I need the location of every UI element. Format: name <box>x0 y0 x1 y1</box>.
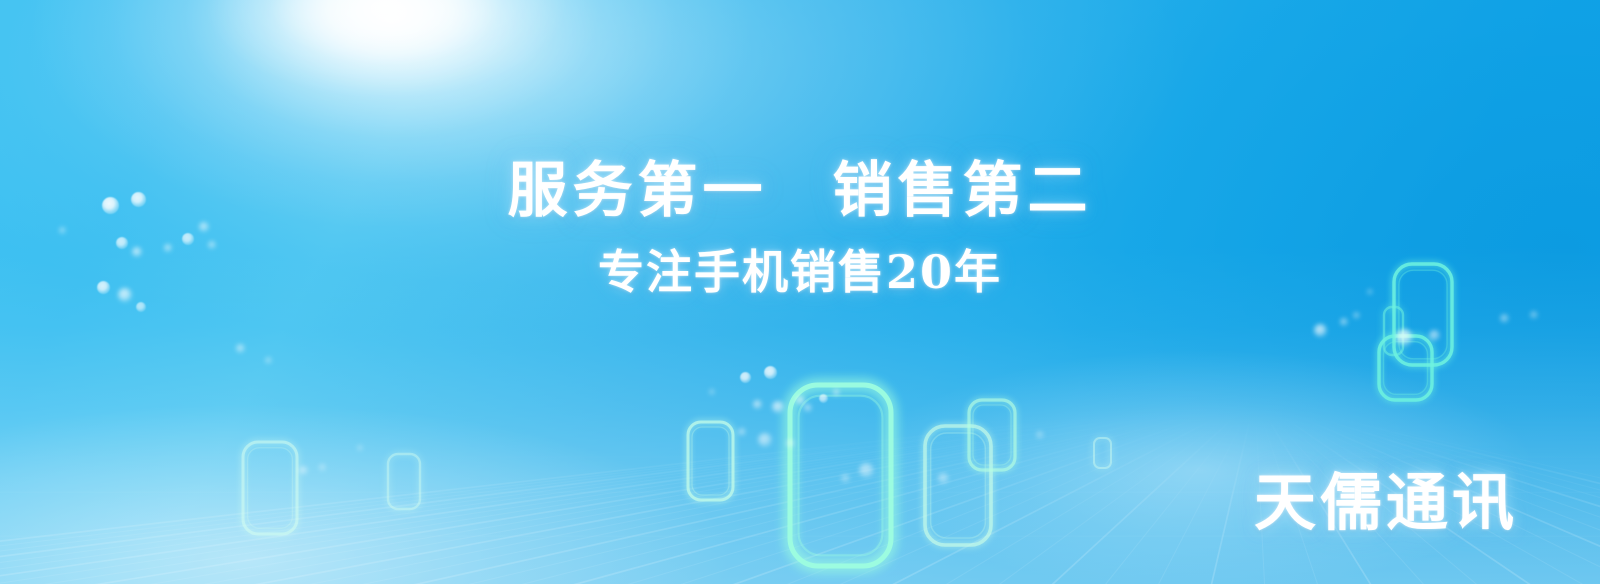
bokeh-dot <box>1429 330 1440 341</box>
phone-center-large <box>790 385 891 566</box>
floor-ray <box>504 414 1255 584</box>
bokeh-dot <box>786 439 795 448</box>
bokeh-dot <box>758 433 772 447</box>
bokeh-dot <box>740 372 751 383</box>
floor-ray <box>0 414 1255 584</box>
bokeh-dot <box>1353 312 1360 319</box>
brand-name: 天儒通讯 <box>1254 452 1518 542</box>
bokeh-dot <box>236 344 245 353</box>
bokeh-dot <box>772 401 784 413</box>
phone-center-large-screen <box>799 396 883 556</box>
floor-ray <box>0 414 1255 584</box>
phone-right-a-screen <box>931 433 986 538</box>
bokeh-dot <box>859 463 874 478</box>
bokeh-dot <box>796 396 805 405</box>
bokeh-dot <box>265 357 272 364</box>
floor-ray <box>884 414 1255 584</box>
floor-ray <box>0 414 1255 584</box>
bokeh-dot <box>1530 311 1538 319</box>
phone-mid-small-screen <box>692 427 729 495</box>
floor-ray <box>450 414 1255 584</box>
phone-right-tiny <box>1094 438 1111 468</box>
bokeh-dot <box>753 400 762 409</box>
bokeh-dot <box>738 428 746 436</box>
phone-right-a <box>925 426 991 545</box>
bokeh-dot <box>299 466 308 475</box>
hero-banner: 服务第一 销售第二 专注手机销售20年 天儒通讯 <box>0 0 1600 584</box>
floor-ray <box>0 414 1255 584</box>
bokeh-dot <box>764 366 777 379</box>
bokeh-dot <box>1396 329 1413 346</box>
floor-ray <box>721 414 1255 584</box>
floor-ray <box>0 414 1255 584</box>
phone-left-small-b <box>388 454 420 509</box>
floor-ray <box>341 414 1255 584</box>
floor-ray <box>69 414 1255 584</box>
floor-ray <box>993 414 1255 584</box>
phone-left-small-a <box>243 442 297 534</box>
floor-ray <box>123 414 1255 584</box>
phone-right-b-screen <box>973 405 1011 465</box>
floor-ray <box>939 414 1255 584</box>
bokeh-dot <box>819 394 828 403</box>
phone-far-right-c <box>1384 307 1403 355</box>
floor-ray <box>1047 414 1255 584</box>
bokeh-dot <box>833 389 840 396</box>
bokeh-dot <box>357 445 363 451</box>
phone-right-b <box>969 400 1015 470</box>
floor-ray <box>287 414 1255 584</box>
floor-ray <box>0 414 1255 584</box>
bokeh-dot <box>1500 314 1509 323</box>
phone-far-right-b-screen <box>1384 342 1428 395</box>
phone-far-right-b <box>1379 336 1432 400</box>
bokeh-dot <box>319 464 326 471</box>
bokeh-dot <box>709 389 715 395</box>
floor-ray <box>1210 414 1255 584</box>
floor-ray <box>1156 414 1255 584</box>
bokeh-dot <box>1340 318 1348 326</box>
floor-ray <box>0 414 1255 584</box>
floor-ray <box>776 414 1255 584</box>
bokeh-dot <box>841 474 850 483</box>
floor-ray <box>232 414 1255 584</box>
bokeh-dot <box>1314 324 1327 337</box>
phone-mid-small <box>688 422 733 500</box>
floor-ray <box>1102 414 1255 584</box>
floor-ray <box>0 414 1255 584</box>
banner-subheadline: 专注手机销售20年 <box>0 236 1600 302</box>
bokeh-dot <box>938 473 949 484</box>
floor-ray <box>667 414 1255 584</box>
floor-ray <box>15 414 1255 584</box>
banner-headline: 服务第一 销售第二 <box>0 142 1600 229</box>
floor-ray <box>178 414 1255 584</box>
floor-ray <box>613 414 1255 584</box>
floor-ray <box>558 414 1255 584</box>
bokeh-dot <box>804 404 812 412</box>
bokeh-dot <box>1036 431 1044 439</box>
phone-left-small-a-screen <box>248 448 293 529</box>
floor-ray <box>830 414 1255 584</box>
bokeh-dot <box>136 302 146 312</box>
floor-ray <box>395 414 1255 584</box>
